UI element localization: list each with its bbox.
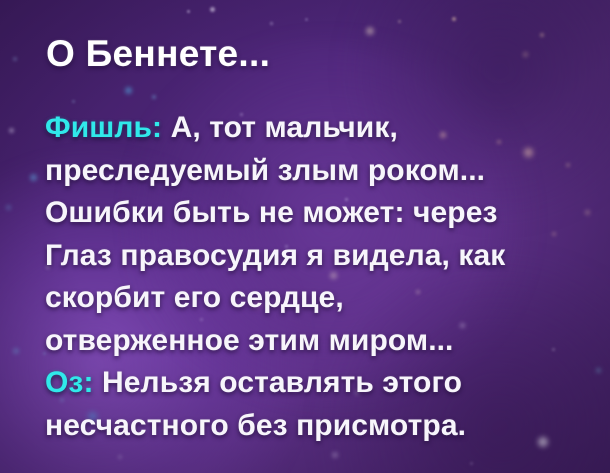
dialogue-text: Ошибки быть не может: через bbox=[45, 196, 498, 229]
dialogue-line: скорбит его сердце, bbox=[45, 277, 590, 320]
dialogue-line: Фишль: А, тот мальчик, bbox=[45, 107, 590, 150]
speaker-name: Оз: bbox=[45, 366, 94, 399]
dialogue-scene: О Беннете... Фишль: А, тот мальчик,пресл… bbox=[0, 0, 610, 473]
dialogue-text: несчастного без присмотра. bbox=[45, 409, 466, 442]
dialogue-text: А, тот мальчик, bbox=[171, 111, 398, 144]
dialogue-text: преследуемый злым роком... bbox=[45, 154, 485, 187]
dialogue-text: Глаз правосудия я видела, как bbox=[45, 239, 505, 272]
dialogue-line: Глаз правосудия я видела, как bbox=[45, 235, 590, 278]
dialogue-text: скорбит его сердце, bbox=[45, 281, 344, 314]
dialogue-text: Нельзя оставлять этого bbox=[102, 366, 462, 399]
page-title: О Беннете... bbox=[46, 33, 270, 75]
dialogue-line: отверженное этим миром... bbox=[45, 320, 590, 363]
dialogue-text: отверженное этим миром... bbox=[45, 324, 454, 357]
dialogue-line: Ошибки быть не может: через bbox=[45, 192, 590, 235]
dialogue-line: Оз: Нельзя оставлять этого bbox=[45, 362, 590, 405]
dialogue-box[interactable]: Фишль: А, тот мальчик,преследуемый злым … bbox=[45, 107, 590, 447]
dialogue-line: преследуемый злым роком... bbox=[45, 150, 590, 193]
speaker-name: Фишль: bbox=[45, 111, 162, 144]
dialogue-line: несчастного без присмотра. bbox=[45, 405, 590, 448]
